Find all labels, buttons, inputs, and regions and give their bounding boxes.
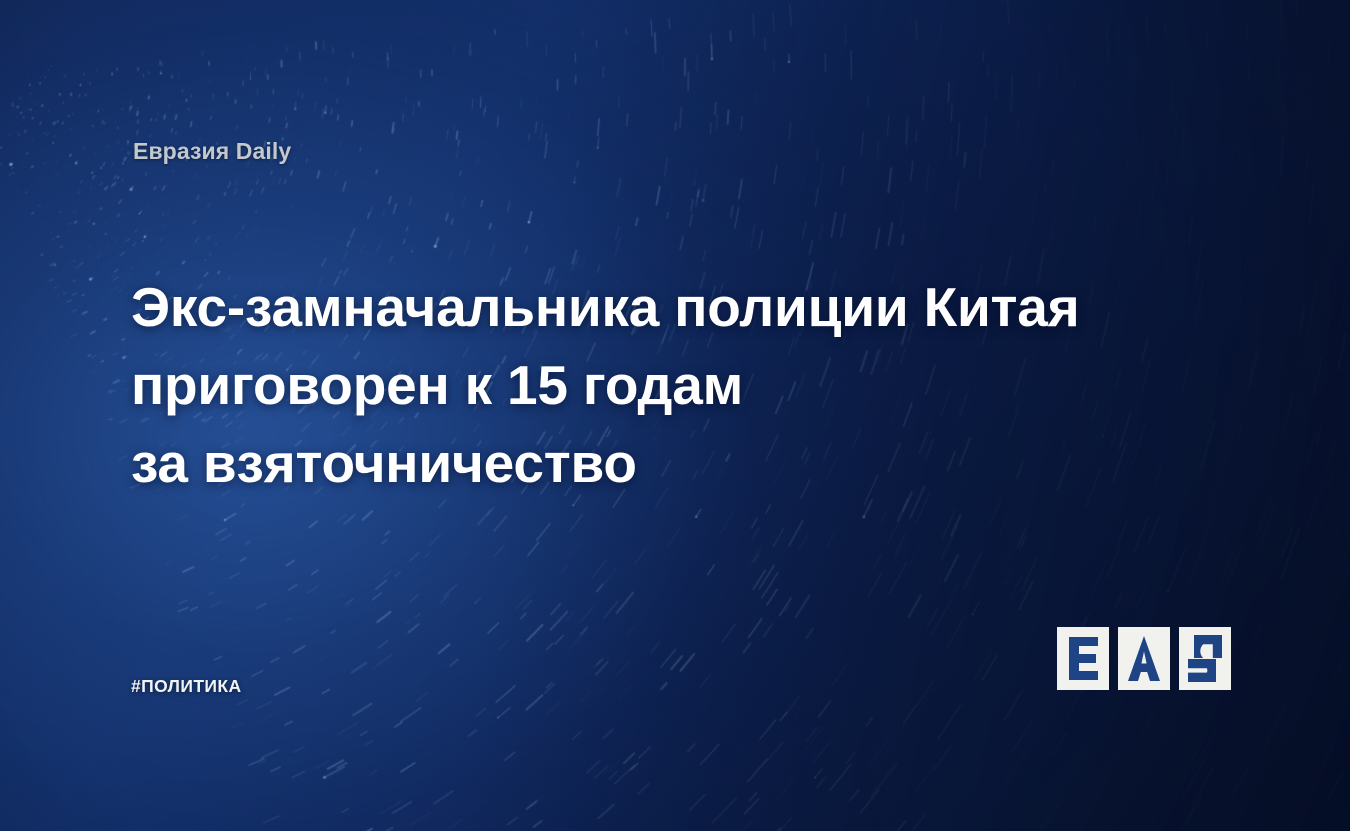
logo-tile-d [1179, 627, 1231, 690]
headline-line-1: Экс-замначальника полиции Китая [131, 268, 1131, 346]
headline: Экс-замначальника полиции Китая приговор… [131, 268, 1131, 502]
category-tag[interactable]: #ПОЛИТИКА [131, 676, 242, 697]
logo-tile-e [1057, 627, 1109, 690]
logo-tile-a [1118, 627, 1170, 690]
letter-d-icon [1179, 627, 1231, 690]
headline-line-2: приговорен к 15 годам [131, 346, 1131, 424]
headline-line-3: за взяточничество [131, 424, 1131, 502]
letter-e-icon [1057, 627, 1109, 690]
ead-logo[interactable] [1057, 627, 1231, 690]
brand-name: Евразия Daily [133, 138, 291, 165]
share-card: Евразия Daily Экс-замначальника полиции … [0, 0, 1350, 831]
letter-a-icon [1118, 627, 1170, 690]
card-content: Евразия Daily Экс-замначальника полиции … [0, 0, 1350, 831]
